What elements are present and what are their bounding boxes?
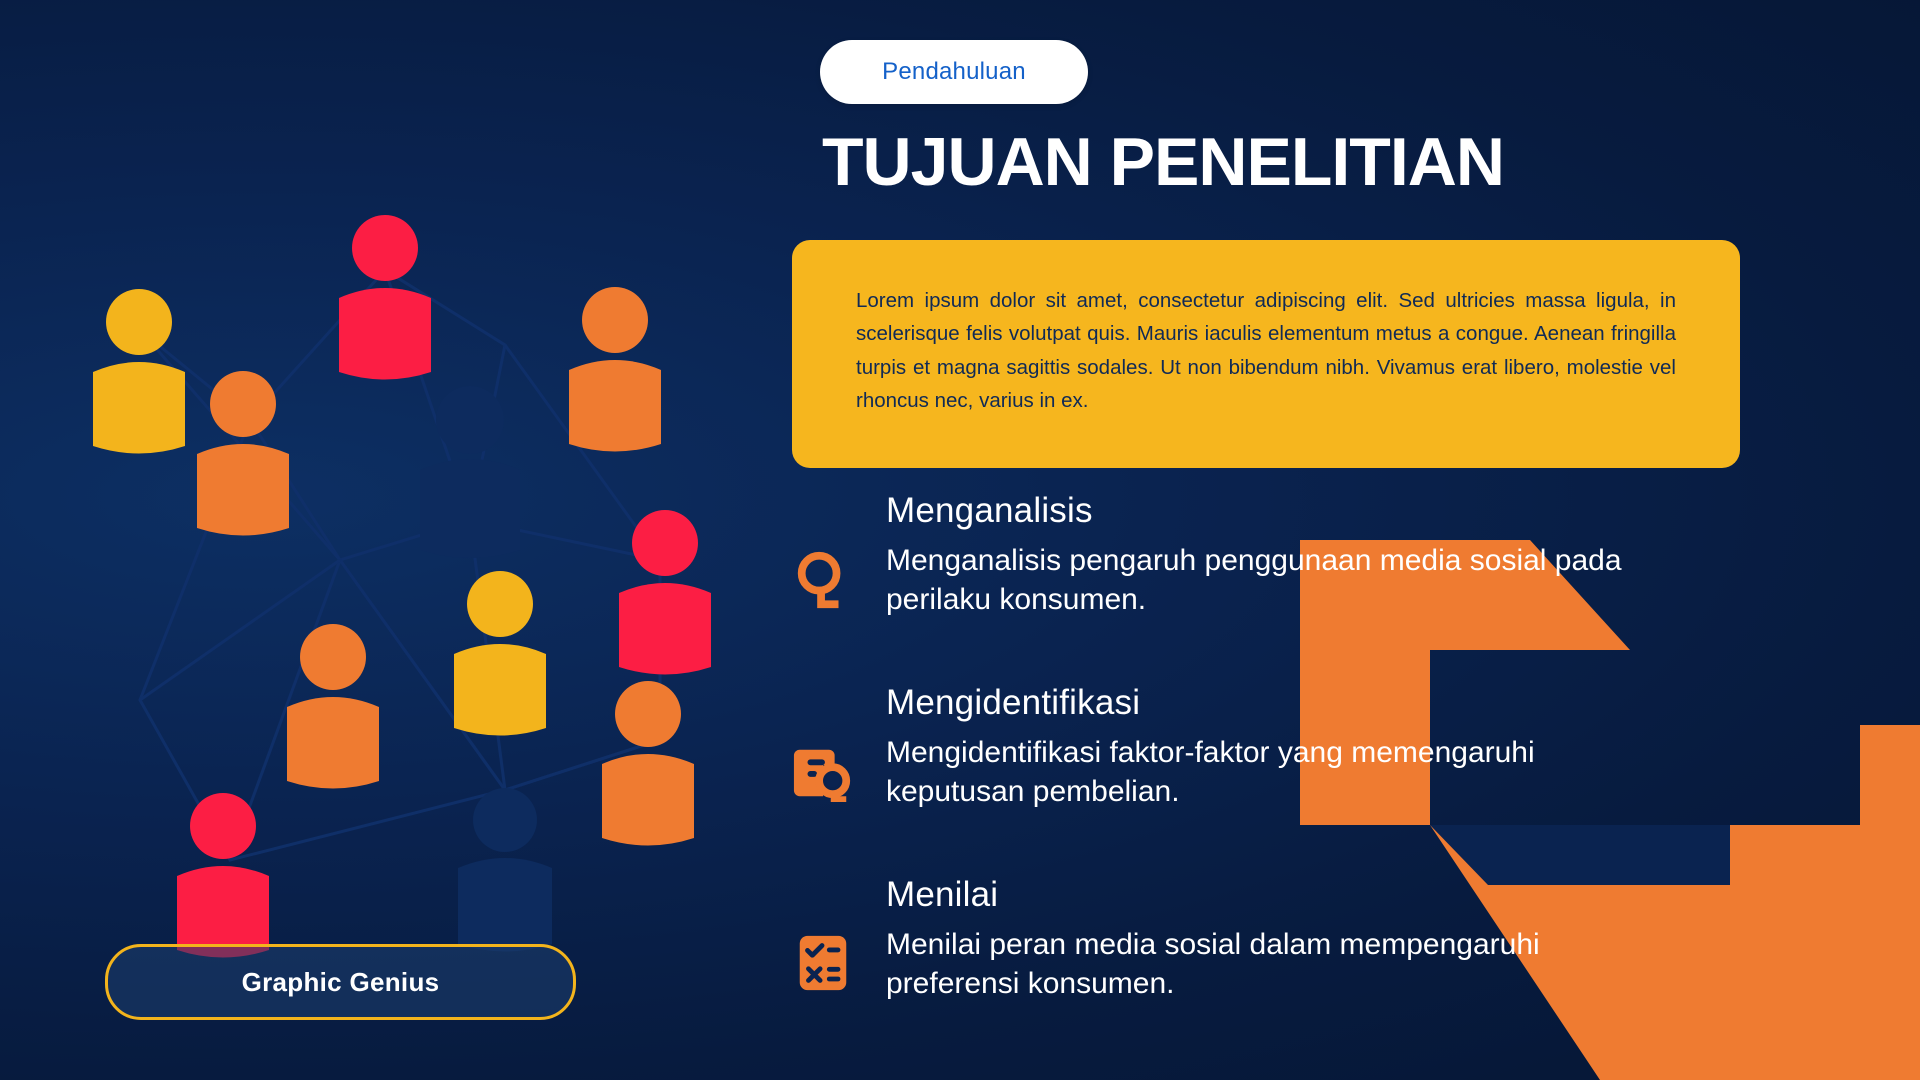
section-pill[interactable]: Pendahuluan xyxy=(820,40,1088,104)
brand-badge[interactable]: Graphic Genius xyxy=(105,944,576,1020)
section-pill-label: Pendahuluan xyxy=(882,58,1026,86)
objective-description: Menganalisis pengaruh penggunaan media s… xyxy=(886,541,1646,621)
presentation-slide: Pendahuluan TUJUAN PENELITIAN Lorem ipsu… xyxy=(0,0,1920,1080)
checklist-calculator-icon xyxy=(792,932,854,994)
intro-text-box: Lorem ipsum dolor sit amet, consectetur … xyxy=(792,240,1740,468)
objective-title: Menganalisis xyxy=(886,488,1802,531)
list-item: Menganalisis Menganalisis pengaruh pengg… xyxy=(792,488,1802,674)
objective-description: Menilai peran media sosial dalam mempeng… xyxy=(886,925,1646,1005)
list-item: Menilai Menilai peran media sosial dalam… xyxy=(792,872,1802,1058)
brand-badge-label: Graphic Genius xyxy=(242,967,440,998)
objective-description: Mengidentifikasi faktor-faktor yang meme… xyxy=(886,733,1646,813)
magnifier-q-icon xyxy=(792,548,854,610)
people-network-illustration xyxy=(0,0,780,1080)
objectives-list: Menganalisis Menganalisis pengaruh pengg… xyxy=(792,488,1802,1058)
page-title: TUJUAN PENELITIAN xyxy=(822,128,1504,196)
objective-title: Mengidentifikasi xyxy=(886,680,1802,723)
list-item: Mengidentifikasi Mengidentifikasi faktor… xyxy=(792,680,1802,866)
objective-title: Menilai xyxy=(886,872,1802,915)
intro-paragraph: Lorem ipsum dolor sit amet, consectetur … xyxy=(856,284,1676,418)
document-search-icon xyxy=(792,740,854,802)
